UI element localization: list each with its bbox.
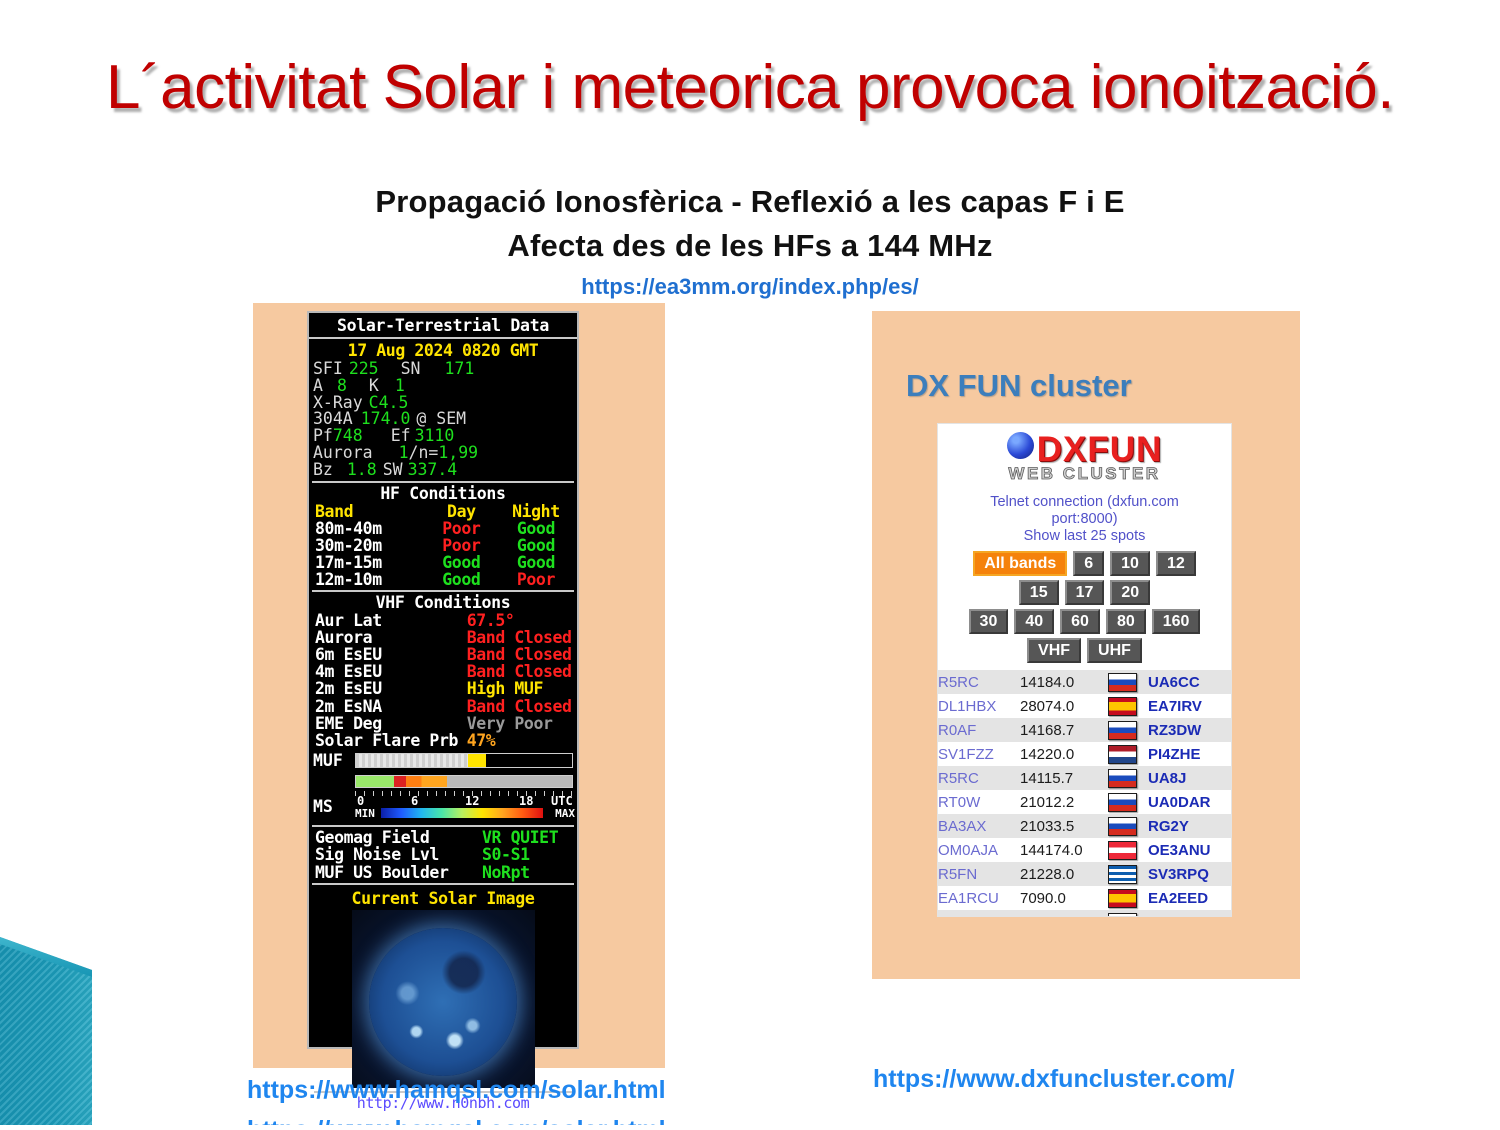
band-button-160[interactable]: 160	[1152, 609, 1201, 634]
metric-row-bz-sw: Bz 1.8 SW 337.4	[309, 462, 577, 479]
hf-day-1: Poor	[428, 537, 495, 554]
spot-list-table: R5RC 14184.0 UA6CC DL1HBX 28074.0 EA7IRV…	[938, 670, 1231, 917]
spot-flag-cell-5	[1108, 790, 1148, 814]
table-row: 2m EsNA Band Closed	[309, 698, 577, 715]
hamqsl-link[interactable]: https://www.hamqsl.com/solar.html	[247, 1076, 666, 1105]
spot-flag-cell-10	[1108, 910, 1148, 917]
table-row[interactable]: R5FN 21228.0 SV3RPQ	[938, 862, 1231, 886]
spot-dx-1[interactable]: EA7IRV	[1148, 694, 1231, 718]
spot-dx-4[interactable]: UA8J	[1148, 766, 1231, 790]
ms-gauge-bar	[355, 775, 573, 788]
metric-value-bz: 1.8	[347, 462, 377, 479]
muf-gauge-bar	[355, 753, 573, 768]
spot-spotter-1[interactable]: DL1HBX	[938, 694, 1020, 718]
table-row[interactable]: R5RC 14184.0 UA6CC	[938, 670, 1231, 694]
spot-dx-0[interactable]: UA6CC	[1148, 670, 1231, 694]
hf-night-3: Poor	[495, 571, 577, 588]
table-row[interactable]: R5RC 14115.7 UA8J	[938, 766, 1231, 790]
spot-spotter-7[interactable]: OM0AJA	[938, 838, 1020, 862]
spot-flag-cell-0	[1108, 670, 1148, 694]
dxfuncluster-link[interactable]: https://www.dxfuncluster.com/	[873, 1065, 1235, 1094]
spot-dx-10[interactable]: RU9AC	[1148, 910, 1231, 917]
table-row[interactable]: SV1FZZ 14220.0 PI4ZHE	[938, 742, 1231, 766]
hf-header-day: Day	[428, 503, 495, 520]
status-value-0: VR QUIET	[480, 829, 577, 846]
table-row: 2m EsEU High MUF	[309, 680, 577, 697]
band-row-4: VHF UHF	[938, 638, 1231, 663]
spot-freq-6: 21033.5	[1020, 814, 1108, 838]
vhf-conditions-table: Aur Lat 67.5° Aurora Band Closed 6m EsEU…	[309, 612, 577, 750]
vhf-value-7: 47%	[465, 732, 577, 749]
solar-widget-datetime: 17 Aug 2024 0820 GMT	[309, 339, 577, 361]
divider-hf	[312, 481, 574, 483]
vhf-value-2: Band Closed	[465, 646, 577, 663]
spot-freq-5: 21012.2	[1020, 790, 1108, 814]
table-row: Aur Lat 67.5°	[309, 612, 577, 629]
hf-band-1: 30m-20m	[309, 537, 428, 554]
spot-freq-4: 14115.7	[1020, 766, 1108, 790]
flag-es-icon	[1108, 697, 1137, 716]
band-button-all[interactable]: All bands	[973, 551, 1067, 576]
vhf-value-6: Very Poor	[465, 715, 577, 732]
divider-vhf	[312, 590, 574, 592]
table-row[interactable]: EA1RCU 7090.0 EA2EED	[938, 886, 1231, 910]
table-row: EME Deg Very Poor	[309, 715, 577, 732]
solar-terrestrial-widget: Solar-Terrestrial Data 17 Aug 2024 0820 …	[307, 311, 579, 1049]
table-row[interactable]: R0AF 14168.7 RZ3DW	[938, 718, 1231, 742]
vhf-label-1: Aurora	[309, 629, 465, 646]
divider-image	[312, 883, 574, 885]
vhf-value-4: High MUF	[465, 680, 577, 697]
flag-gr-icon	[1108, 865, 1137, 884]
spot-flag-cell-3	[1108, 742, 1148, 766]
hf-header-band: Band	[309, 503, 428, 520]
cluster-heading: DX FUN cluster	[906, 368, 1132, 404]
table-row: 17m-15m Good Good	[309, 554, 577, 571]
hf-night-0: Good	[495, 520, 577, 537]
band-button-12[interactable]: 12	[1156, 551, 1196, 576]
band-button-60[interactable]: 60	[1060, 609, 1100, 634]
vhf-label-0: Aur Lat	[309, 612, 465, 629]
band-button-30[interactable]: 30	[969, 609, 1009, 634]
table-row[interactable]: BA3AX 21033.5 RG2Y	[938, 814, 1231, 838]
status-label-2: MUF US Boulder	[309, 864, 480, 881]
spot-spotter-9[interactable]: EA1RCU	[938, 886, 1020, 910]
spot-flag-cell-4	[1108, 766, 1148, 790]
status-value-1: S0-S1	[480, 846, 577, 863]
table-row[interactable]: R4FD/P 14187.1 RU9AC	[938, 910, 1231, 917]
scale-max-label: MAX	[555, 807, 575, 820]
spot-freq-10: 14187.1	[1020, 910, 1108, 917]
spot-spotter-0[interactable]: R5RC	[938, 670, 1020, 694]
vhf-label-6: EME Deg	[309, 715, 465, 732]
flag-ru-icon	[1108, 673, 1137, 692]
hf-night-2: Good	[495, 554, 577, 571]
band-button-10[interactable]: 10	[1110, 551, 1150, 576]
spot-flag-cell-2	[1108, 718, 1148, 742]
hf-conditions-table: Band Day Night 80m-40m Poor Good 30m-20m…	[309, 503, 577, 588]
spot-dx-3[interactable]: PI4ZHE	[1148, 742, 1231, 766]
spot-freq-2: 14168.7	[1020, 718, 1108, 742]
band-button-17[interactable]: 17	[1065, 580, 1105, 605]
table-row[interactable]: OM0AJA 144174.0 OE3ANU	[938, 838, 1231, 862]
scale-tick-utc: UTC	[551, 794, 573, 808]
subtitle-line-2: Afecta des de les HFs a 144 MHz	[0, 224, 1500, 268]
band-button-40[interactable]: 40	[1014, 609, 1054, 634]
spot-freq-8: 21228.0	[1020, 862, 1108, 886]
band-row-1: All bands 6 10 12	[938, 551, 1231, 576]
flag-ru-icon	[1108, 721, 1137, 740]
spot-dx-8[interactable]: SV3RPQ	[1148, 862, 1231, 886]
band-filter-buttons: All bands 6 10 12 15 17 20 30 40 60 80 1…	[938, 551, 1231, 663]
scale-min-label: MIN	[355, 807, 375, 820]
metric-label-bz: Bz	[313, 462, 333, 479]
solar-image-title: Current Solar Image	[309, 887, 577, 910]
spot-dx-6[interactable]: RG2Y	[1148, 814, 1231, 838]
spot-freq-0: 14184.0	[1020, 670, 1108, 694]
spot-spotter-2[interactable]: R0AF	[938, 718, 1020, 742]
gauge-color-scale	[381, 808, 543, 818]
ea3mm-link[interactable]: https://ea3mm.org/index.php/es/	[0, 274, 1500, 300]
metric-value-sw: 337.4	[408, 462, 458, 479]
flag-ru-icon	[1108, 913, 1137, 918]
spot-freq-1: 28074.0	[1020, 694, 1108, 718]
muf-gauge-label: MUF	[313, 751, 355, 770]
spot-spotter-8[interactable]: R5FN	[938, 862, 1020, 886]
spot-freq-9: 7090.0	[1020, 886, 1108, 910]
hf-day-0: Poor	[428, 520, 495, 537]
band-row-2: 15 17 20	[938, 580, 1231, 605]
vhf-value-5: Band Closed	[465, 698, 577, 715]
band-button-80[interactable]: 80	[1106, 609, 1146, 634]
vhf-value-0: 67.5°	[465, 612, 577, 629]
hf-band-3: 12m-10m	[309, 571, 428, 588]
status-value-2: NoRpt	[480, 864, 577, 881]
vhf-label-3: 4m EsEU	[309, 663, 465, 680]
muf-gauge-fill	[356, 754, 468, 767]
hamqsl-link-clipped[interactable]: https://www.hamqsl.com/solar.html	[247, 1116, 666, 1125]
subtitle-block: Propagació Ionosfèrica - Reflexió a les …	[0, 180, 1500, 300]
spot-flag-cell-8	[1108, 862, 1148, 886]
spot-flag-cell-6	[1108, 814, 1148, 838]
spot-spotter-10[interactable]: R4FD/P	[938, 910, 1020, 917]
spot-dx-2[interactable]: RZ3DW	[1148, 718, 1231, 742]
solar-widget-header: Solar-Terrestrial Data	[309, 313, 577, 339]
table-row[interactable]: DL1HBX 28074.0 EA7IRV	[938, 694, 1231, 718]
spot-flag-cell-7	[1108, 838, 1148, 862]
spot-spotter-6[interactable]: BA3AX	[938, 814, 1020, 838]
scale-tick-6: 6	[411, 794, 418, 808]
telnet-info-line-2: port:8000)	[938, 511, 1231, 528]
table-row: 80m-40m Poor Good	[309, 520, 577, 537]
dxfun-logo: DXFUN WEB CLUSTER	[938, 424, 1231, 494]
spot-freq-3: 14220.0	[1020, 742, 1108, 766]
band-button-15[interactable]: 15	[1019, 580, 1059, 605]
dxfun-ball-icon	[1007, 432, 1034, 459]
flag-ru-icon	[1108, 817, 1137, 836]
gauge-scale-numbers: 0 6 12 18 UTC	[355, 794, 573, 808]
ms-gauge-line: .	[313, 772, 573, 791]
dxfun-logo-subtitle: WEB CLUSTER	[938, 464, 1231, 484]
scale-tick-12: 12	[465, 794, 479, 808]
flag-es-icon	[1108, 889, 1137, 908]
spot-spotter-5[interactable]: RT0W	[938, 790, 1020, 814]
gauge-scale-row: MS 0 6 12 18 UTC MIN MAX	[313, 791, 573, 821]
band-button-20[interactable]: 20	[1110, 580, 1150, 605]
hf-night-1: Good	[495, 537, 577, 554]
dxfun-cluster-widget: DXFUN WEB CLUSTER Telnet connection (dxf…	[937, 423, 1232, 917]
hf-band-0: 80m-40m	[309, 520, 428, 537]
vhf-conditions-title: VHF Conditions	[309, 594, 577, 612]
ms-gauge-fill	[356, 776, 447, 787]
vhf-value-1: Band Closed	[465, 629, 577, 646]
muf-ms-gauges: MUF . MS 0 6 12 18 UTC	[309, 749, 577, 821]
hf-table-header: Band Day Night	[309, 503, 577, 520]
band-button-vhf[interactable]: VHF	[1027, 638, 1081, 663]
band-button-uhf[interactable]: UHF	[1087, 638, 1142, 663]
spot-freq-7: 144174.0	[1020, 838, 1108, 862]
table-row: Aurora Band Closed	[309, 629, 577, 646]
table-row: MUF US Boulder NoRpt	[309, 864, 577, 881]
hf-header-night: Night	[495, 503, 577, 520]
flag-at-icon	[1108, 841, 1137, 860]
metric-value-sn: 171	[445, 361, 475, 378]
table-row: Sig Noise Lvl S0-S1	[309, 846, 577, 863]
spot-dx-9[interactable]: EA2EED	[1148, 886, 1231, 910]
subtitle-line-1: Propagació Ionosfèrica - Reflexió a les …	[0, 180, 1500, 224]
spot-spotter-4[interactable]: R5RC	[938, 766, 1020, 790]
page-title: L´activitat Solar i meteorica provoca io…	[0, 52, 1500, 123]
table-row[interactable]: RT0W 21012.2 UA0DAR	[938, 790, 1231, 814]
flag-nl-icon	[1108, 745, 1137, 764]
status-label-0: Geomag Field	[309, 829, 480, 846]
band-button-6[interactable]: 6	[1073, 551, 1104, 576]
spot-flag-cell-9	[1108, 886, 1148, 910]
table-row: Solar Flare Prb 47%	[309, 732, 577, 749]
metric-label-sw: SW	[383, 462, 403, 479]
vhf-label-4: 2m EsEU	[309, 680, 465, 697]
solar-disc-image	[352, 910, 535, 1088]
divider-status	[312, 825, 574, 827]
vhf-value-3: Band Closed	[465, 663, 577, 680]
flag-ru-icon	[1108, 769, 1137, 788]
metric-row-sfi: SFI 225 SN 171	[309, 361, 577, 378]
hf-day-2: Good	[428, 554, 495, 571]
spot-spotter-3[interactable]: SV1FZZ	[938, 742, 1020, 766]
scale-tick-18: 18	[519, 794, 533, 808]
spot-dx-5[interactable]: UA0DAR	[1148, 790, 1231, 814]
table-row: 12m-10m Good Poor	[309, 571, 577, 588]
table-row: 30m-20m Poor Good	[309, 537, 577, 554]
hf-day-3: Good	[428, 571, 495, 588]
band-row-3: 30 40 60 80 160	[938, 609, 1231, 634]
muf-gauge-line: MUF	[313, 751, 573, 770]
status-table: Geomag Field VR QUIET Sig Noise Lvl S0-S…	[309, 829, 577, 881]
status-label-1: Sig Noise Lvl	[309, 846, 480, 863]
table-row: Geomag Field VR QUIET	[309, 829, 577, 846]
vhf-label-2: 6m EsEU	[309, 646, 465, 663]
table-row: 6m EsEU Band Closed	[309, 646, 577, 663]
vhf-label-7: Solar Flare Prb	[309, 732, 465, 749]
telnet-info-line-1: Telnet connection (dxfun.com	[938, 494, 1231, 511]
spot-flag-cell-1	[1108, 694, 1148, 718]
vhf-label-5: 2m EsNA	[309, 698, 465, 715]
table-row: 4m EsEU Band Closed	[309, 663, 577, 680]
hf-band-2: 17m-15m	[309, 554, 428, 571]
ms-gauge-label: MS	[313, 797, 355, 816]
gauge-scale: 0 6 12 18 UTC MIN MAX	[355, 791, 573, 821]
sun-disc	[369, 928, 517, 1076]
muf-gauge-marker	[468, 754, 485, 767]
flag-ru-icon	[1108, 793, 1137, 812]
hf-conditions-title: HF Conditions	[309, 485, 577, 503]
spot-dx-7[interactable]: OE3ANU	[1148, 838, 1231, 862]
scale-tick-0: 0	[357, 794, 364, 808]
spots-count-info: Show last 25 spots	[938, 528, 1231, 545]
